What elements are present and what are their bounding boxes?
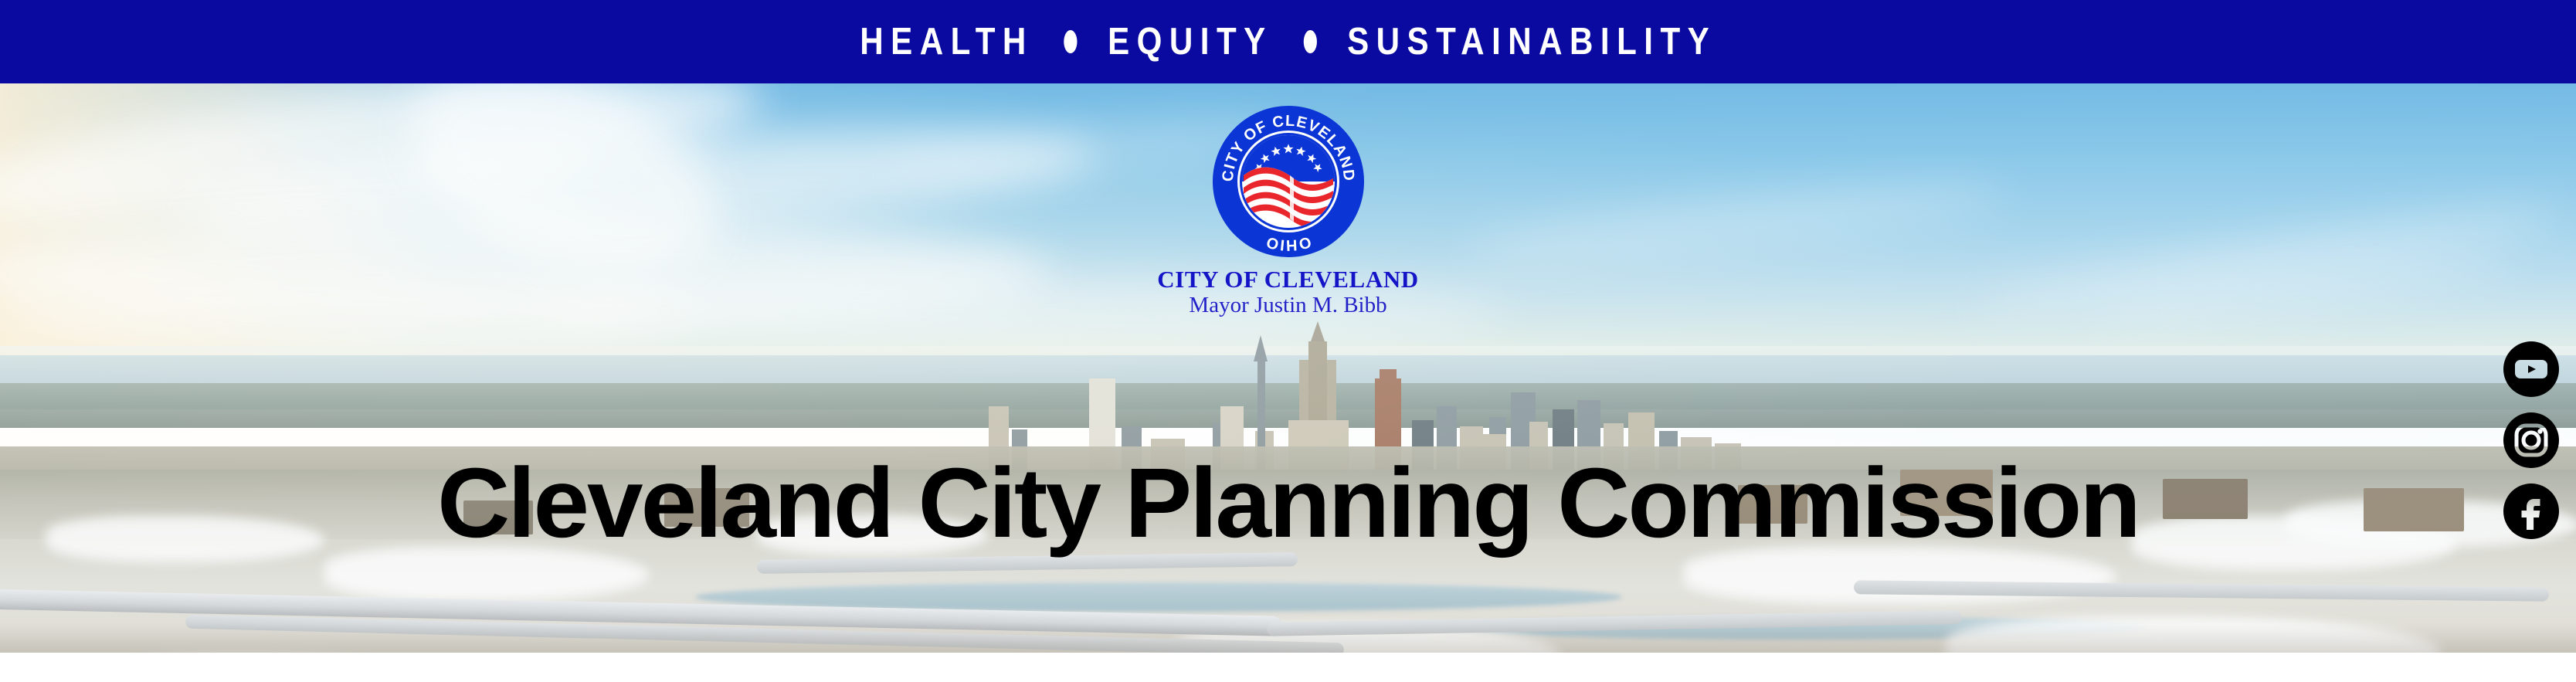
facebook-link[interactable] <box>2503 484 2559 539</box>
page-root: HEALTH EQUITY SUSTAINABILITY <box>0 0 2576 682</box>
instagram-icon <box>2503 412 2559 468</box>
instagram-link[interactable] <box>2503 412 2559 468</box>
youtube-icon <box>2503 341 2559 397</box>
snow-patch <box>46 516 324 562</box>
snow-patch <box>324 547 649 601</box>
social-links-rail <box>2503 341 2559 539</box>
hero-photo <box>0 83 2576 653</box>
building <box>2163 479 2248 519</box>
building <box>664 488 749 527</box>
tagline-separator-dot-1 <box>1064 30 1077 53</box>
tagline-word-equity: EQUITY <box>1108 23 1273 61</box>
tagline-word-health: HEALTH <box>860 23 1033 61</box>
building <box>2364 488 2464 531</box>
building <box>463 500 533 534</box>
foreground-rooftops <box>0 624 2576 653</box>
snow-patch <box>757 514 989 555</box>
tagline-text: HEALTH EQUITY SUSTAINABILITY <box>860 23 1716 61</box>
tagline-bar: HEALTH EQUITY SUSTAINABILITY <box>0 0 2576 83</box>
building <box>1900 470 1993 516</box>
tagline-separator-dot-2 <box>1303 30 1316 53</box>
tagline-word-sustainability: SUSTAINABILITY <box>1347 23 1716 61</box>
facebook-icon <box>2503 484 2559 539</box>
bottom-white-strip <box>0 653 2576 682</box>
building <box>1738 485 1807 524</box>
youtube-link[interactable] <box>2503 341 2559 397</box>
